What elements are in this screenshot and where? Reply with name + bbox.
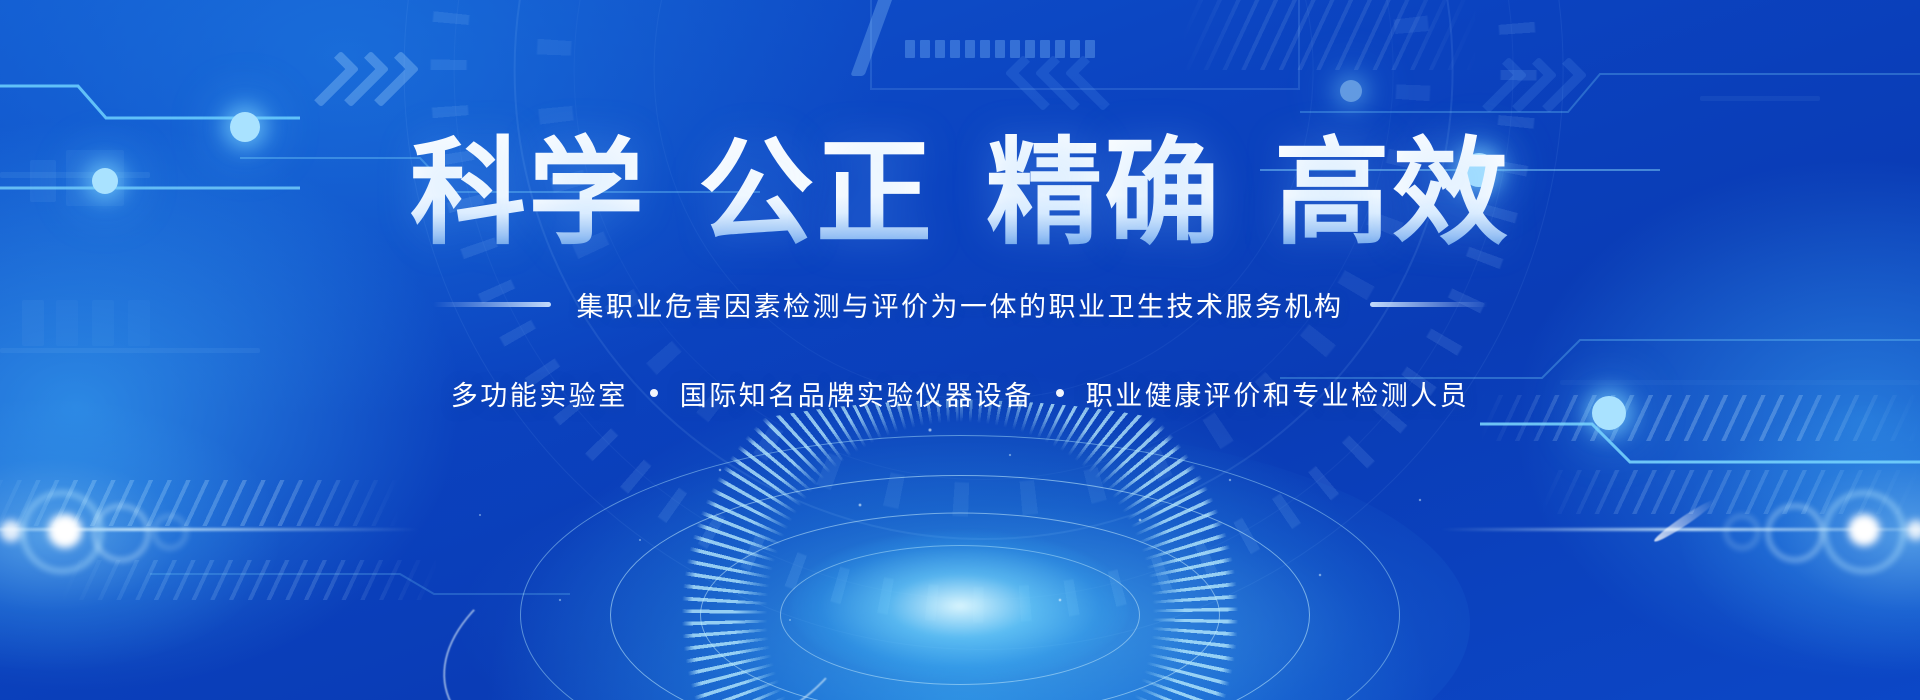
feature-separator-dot-icon — [650, 389, 658, 397]
headline-char: 公 — [698, 132, 816, 255]
feature-item-3: 职业健康评价和专业检测人员 — [1086, 374, 1470, 413]
feature-separator-dot-icon — [1056, 389, 1064, 397]
subtitle-text: 集职业危害因素检测与评价为一体的职业卫生技术服务机构 — [577, 285, 1344, 324]
subtitle-row: 集职业危害因素检测与评价为一体的职业卫生技术服务机构 — [433, 285, 1488, 324]
feature-list: 多功能实验室 国际知名品牌实验仪器设备 职业健康评价和专业检测人员 — [451, 374, 1470, 413]
hero-banner: 科 学 公 正 精 确 高 效 集职业危害因素检测与评价为一体的职业卫生技术服务… — [0, 0, 1920, 700]
headline-char: 正 — [816, 132, 934, 255]
headline-char: 确 — [1104, 132, 1222, 255]
feature-item-1: 多功能实验室 — [451, 374, 628, 413]
headline-char: 高 — [1274, 132, 1392, 255]
headline-char: 科 — [410, 132, 528, 255]
headline: 科 学 公 正 精 确 高 效 — [410, 132, 1510, 255]
subtitle-rule-right — [1370, 302, 1488, 307]
feature-item-2: 国际知名品牌实验仪器设备 — [680, 374, 1034, 413]
headline-char: 效 — [1392, 132, 1510, 255]
banner-content: 科 学 公 正 精 确 高 效 集职业危害因素检测与评价为一体的职业卫生技术服务… — [0, 0, 1920, 700]
headline-char: 学 — [528, 132, 646, 255]
subtitle-rule-left — [433, 302, 551, 307]
headline-char: 精 — [986, 132, 1104, 255]
